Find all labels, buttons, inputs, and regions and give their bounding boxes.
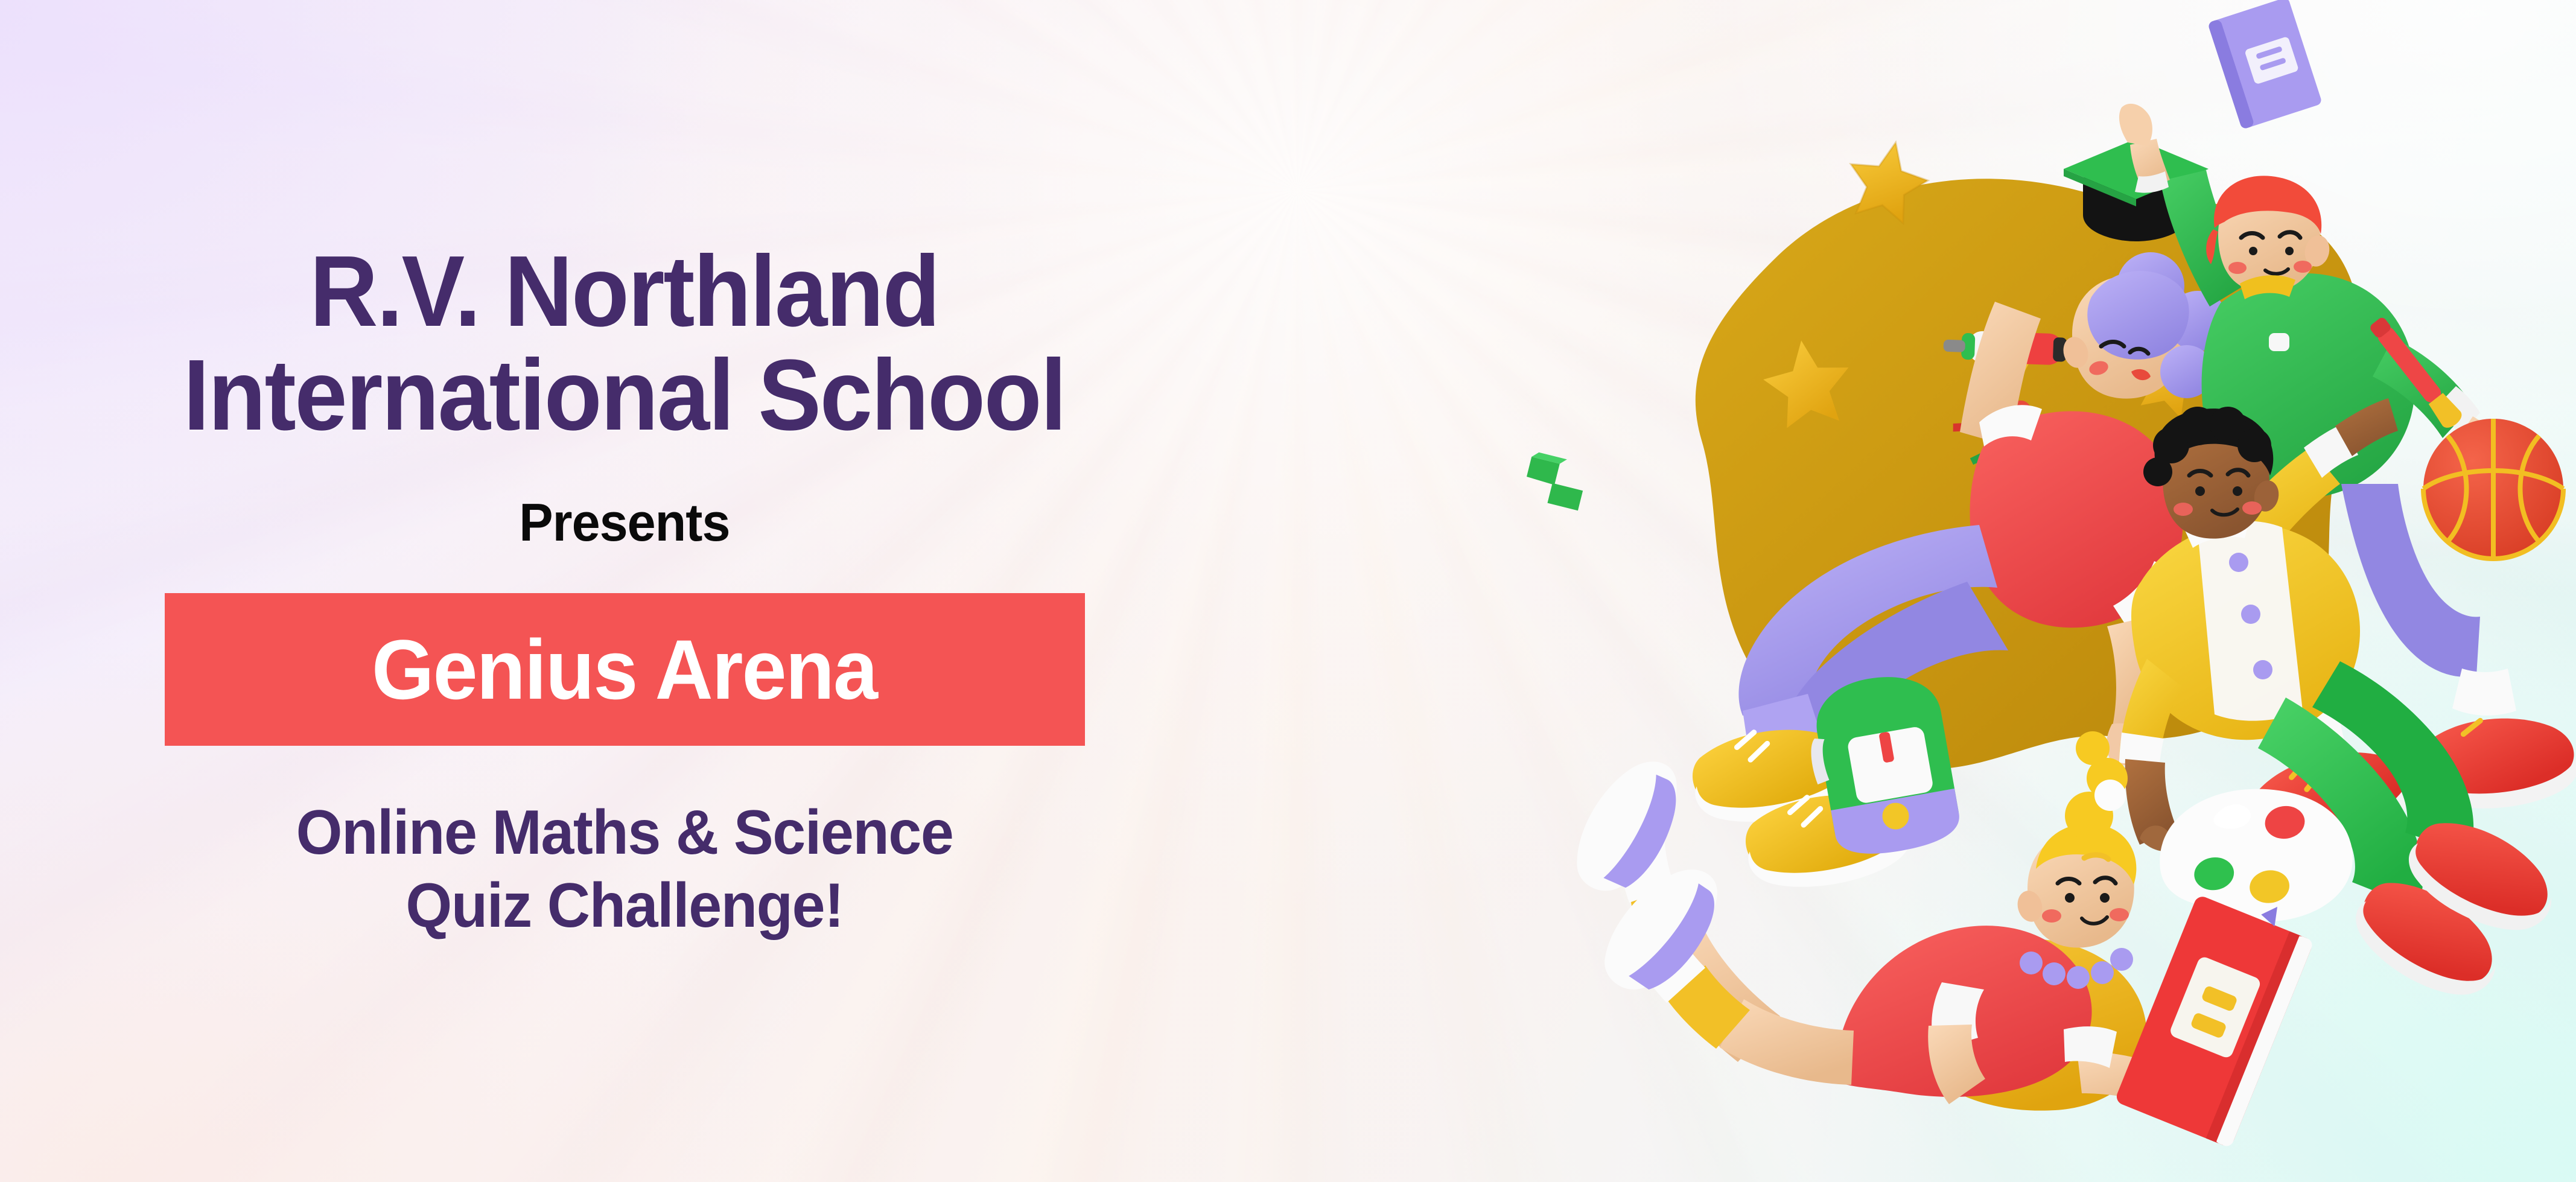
promo-banner: R.V. Northland International School Pres…: [0, 0, 2576, 1182]
blue-book-icon: [2207, 0, 2323, 130]
event-subtitle: Online Maths & Science Quiz Challenge!: [296, 796, 953, 942]
zigzag-icon: [1522, 451, 1589, 510]
basketball-icon: [2423, 419, 2563, 559]
students-illustration: [1436, 0, 2576, 1182]
event-name-band: Genius Arena: [165, 593, 1085, 746]
text-column: R.V. Northland International School Pres…: [0, 0, 1249, 1182]
white-dot-icon: [2094, 780, 2126, 811]
school-name-heading: R.V. Northland International School: [183, 240, 1066, 447]
event-name-text: Genius Arena: [372, 628, 877, 712]
presents-label: Presents: [519, 492, 730, 553]
